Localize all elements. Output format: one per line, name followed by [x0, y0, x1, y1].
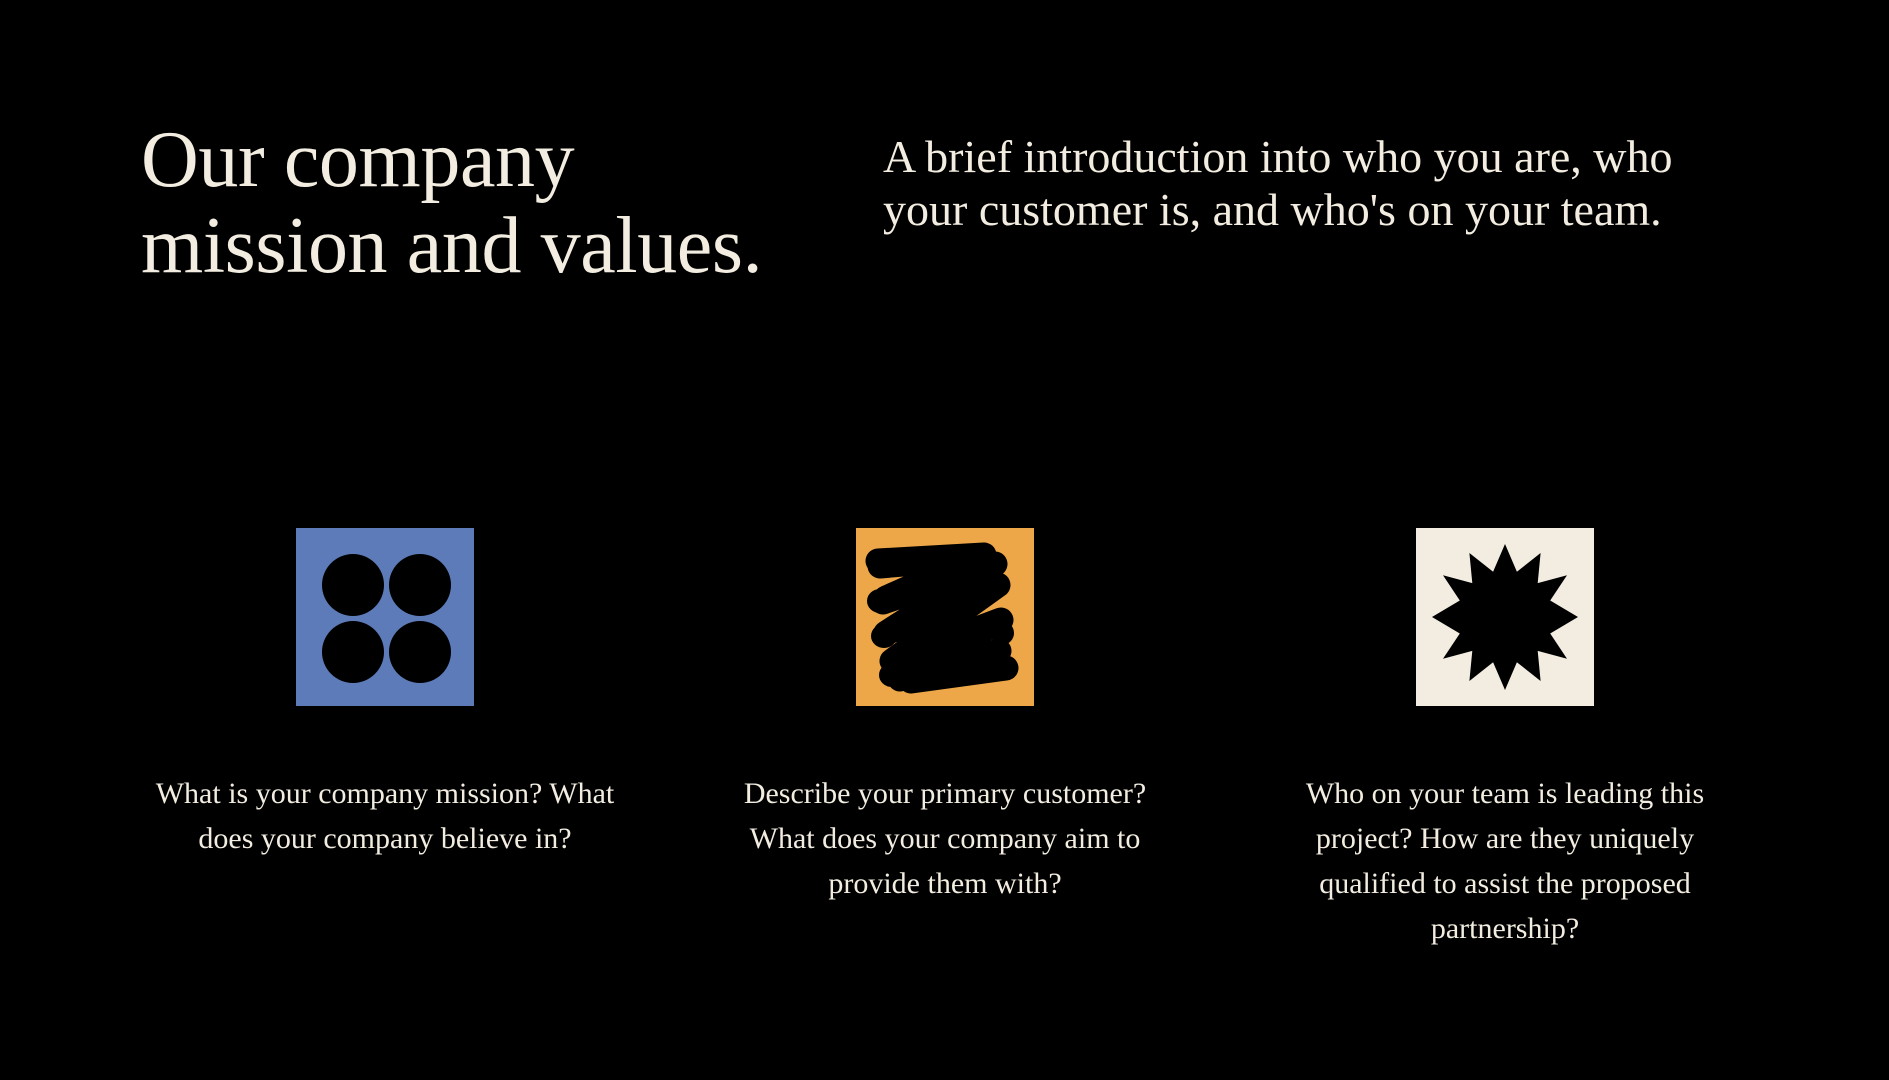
slide-header: Our company mission and values. A brief …: [0, 118, 1889, 318]
slide-canvas: Our company mission and values. A brief …: [0, 0, 1889, 1080]
four-dots-square-icon: [296, 528, 474, 706]
content-column: Describe your primary customer? What doe…: [705, 528, 1185, 981]
page-title: Our company mission and values.: [141, 118, 841, 289]
column-caption: Who on your team is leading this project…: [1265, 771, 1745, 951]
twelve-point-star-square-icon: [1416, 528, 1594, 706]
content-column: What is your company mission? What does …: [145, 528, 625, 981]
subtitle-block: A brief introduction into who you are, w…: [883, 130, 1683, 237]
page-subtitle: A brief introduction into who you are, w…: [883, 130, 1683, 237]
title-block: Our company mission and values.: [141, 118, 841, 289]
content-column: Who on your team is leading this project…: [1265, 528, 1745, 981]
content-columns: What is your company mission? What does …: [0, 528, 1889, 981]
column-caption: What is your company mission? What does …: [150, 771, 620, 861]
column-caption: Describe your primary customer? What doe…: [710, 771, 1180, 906]
scribble-square-icon: [856, 528, 1034, 706]
